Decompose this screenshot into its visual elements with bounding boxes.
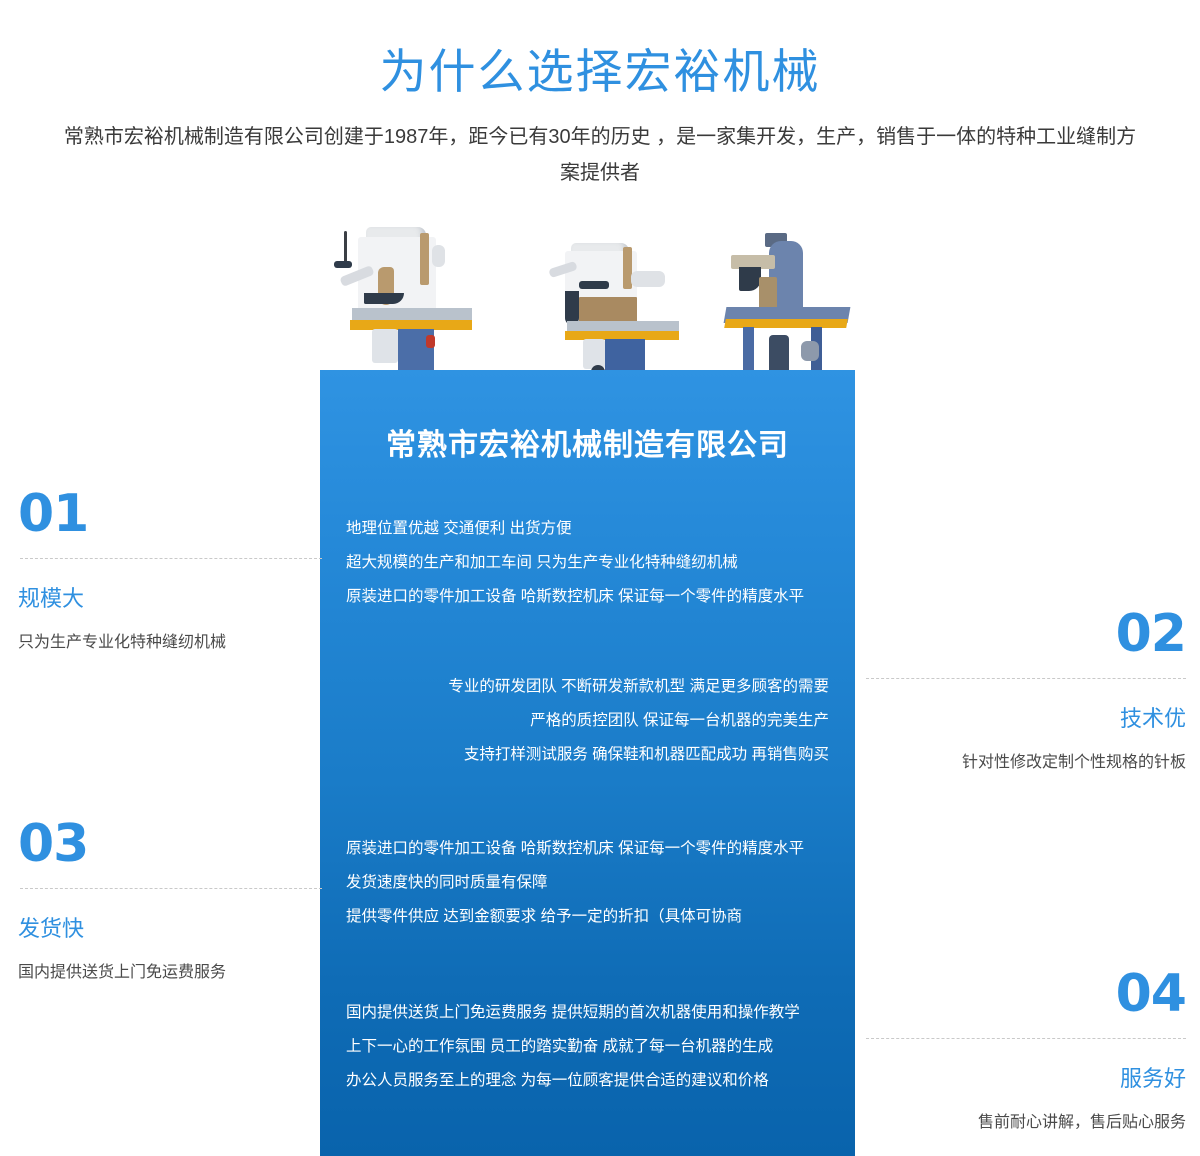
feature-title: 规模大 bbox=[18, 585, 320, 614]
feature-number: 03 bbox=[18, 818, 320, 870]
machine-motor bbox=[631, 271, 665, 287]
feature-description: 国内提供送货上门免运费服务 bbox=[18, 956, 320, 989]
feature-title: 发货快 bbox=[18, 915, 320, 944]
machine-wire bbox=[344, 231, 347, 265]
machine-lower-arm bbox=[565, 291, 579, 325]
panel-line: 专业的研发团队 不断研发新款机型 满足更多顾客的需要 bbox=[346, 670, 829, 704]
feature-block-01: 01 规模大 只为生产专业化特种缝纫机械 bbox=[0, 488, 320, 659]
company-info-panel: 常熟市宏裕机械制造有限公司 地理位置优越 交通便利 出货方便 超大规模的生产和加… bbox=[320, 370, 855, 1156]
machine-belt-cover bbox=[420, 233, 429, 285]
machine-plate bbox=[579, 281, 609, 289]
panel-line: 提供零件供应 达到金额要求 给予一定的折扣（具体可协商 bbox=[346, 900, 829, 934]
machine-side-motor bbox=[801, 341, 819, 361]
feature-number: 04 bbox=[880, 968, 1186, 1020]
panel-line: 严格的质控团队 保证每一台机器的完美生产 bbox=[346, 704, 829, 738]
company-name: 常熟市宏裕机械制造有限公司 bbox=[320, 420, 855, 464]
panel-text-block-4: 国内提供送货上门免运费服务 提供短期的首次机器使用和操作教学 上下一心的工作氛围… bbox=[346, 996, 829, 1098]
feature-block-03: 03 发货快 国内提供送货上门免运费服务 bbox=[0, 818, 320, 989]
panel-line: 地理位置优越 交通便利 出货方便 bbox=[346, 512, 829, 546]
machine-under-cabinet bbox=[583, 339, 605, 369]
feature-divider bbox=[866, 1038, 1186, 1039]
feature-block-02: 02 技术优 针对性修改定制个性规格的针板 bbox=[880, 608, 1200, 779]
feature-description: 针对性修改定制个性规格的针板 bbox=[880, 746, 1186, 779]
panel-line: 原装进口的零件加工设备 哈斯数控机床 保证每一个零件的精度水平 bbox=[346, 832, 829, 866]
machine-lower-arm bbox=[364, 293, 404, 304]
panel-line: 国内提供送货上门免运费服务 提供短期的首次机器使用和操作教学 bbox=[346, 996, 829, 1030]
panel-text-block-2: 专业的研发团队 不断研发新款机型 满足更多顾客的需要 严格的质控团队 保证每一台… bbox=[346, 670, 829, 772]
panel-line: 办公人员服务至上的理念 为每一位顾客提供合适的建议和价格 bbox=[346, 1064, 829, 1098]
machine-under-cabinet bbox=[372, 329, 398, 363]
machine-presser-foot bbox=[334, 261, 352, 268]
panel-text-block-1: 地理位置优越 交通便利 出货方便 超大规模的生产和加工车间 只为生产专业化特种缝… bbox=[346, 512, 829, 614]
machine-workpiece-box bbox=[579, 297, 637, 323]
feature-divider bbox=[866, 678, 1186, 679]
feature-number: 02 bbox=[880, 608, 1186, 660]
panel-line: 上下一心的工作氛围 员工的踏实勤奋 成就了每一台机器的生成 bbox=[346, 1030, 829, 1064]
center-column: 常熟市宏裕机械制造有限公司 地理位置优越 交通便利 出货方便 超大规模的生产和加… bbox=[320, 0, 855, 1156]
feature-title: 服务好 bbox=[880, 1065, 1186, 1094]
panel-line: 发货速度快的同时质量有保障 bbox=[346, 866, 829, 900]
machine-needle-assembly bbox=[739, 267, 761, 291]
feature-divider bbox=[20, 888, 322, 889]
feature-title: 技术优 bbox=[880, 705, 1186, 734]
feature-block-04: 04 服务好 售前耐心讲解，售后贴心服务 bbox=[880, 968, 1200, 1139]
feature-description: 只为生产专业化特种缝纫机械 bbox=[18, 626, 320, 659]
panel-text-block-3: 原装进口的零件加工设备 哈斯数控机床 保证每一个零件的精度水平 发货速度快的同时… bbox=[346, 832, 829, 934]
machine-motor-housing bbox=[769, 335, 789, 375]
panel-line: 支持打样测试服务 确保鞋和机器匹配成功 再销售购买 bbox=[346, 738, 829, 772]
feature-description: 售前耐心讲解，售后贴心服务 bbox=[880, 1106, 1186, 1139]
feature-number: 01 bbox=[18, 488, 320, 540]
feature-divider bbox=[20, 558, 322, 559]
panel-line: 原装进口的零件加工设备 哈斯数控机床 保证每一个零件的精度水平 bbox=[346, 580, 829, 614]
panel-line: 超大规模的生产和加工车间 只为生产专业化特种缝纫机械 bbox=[346, 546, 829, 580]
machine-motor bbox=[432, 245, 445, 267]
promo-page: 为什么选择宏裕机械 常熟市宏裕机械制造有限公司创建于1987年，距今已有30年的… bbox=[0, 0, 1200, 1156]
machine-control-box bbox=[426, 335, 435, 348]
